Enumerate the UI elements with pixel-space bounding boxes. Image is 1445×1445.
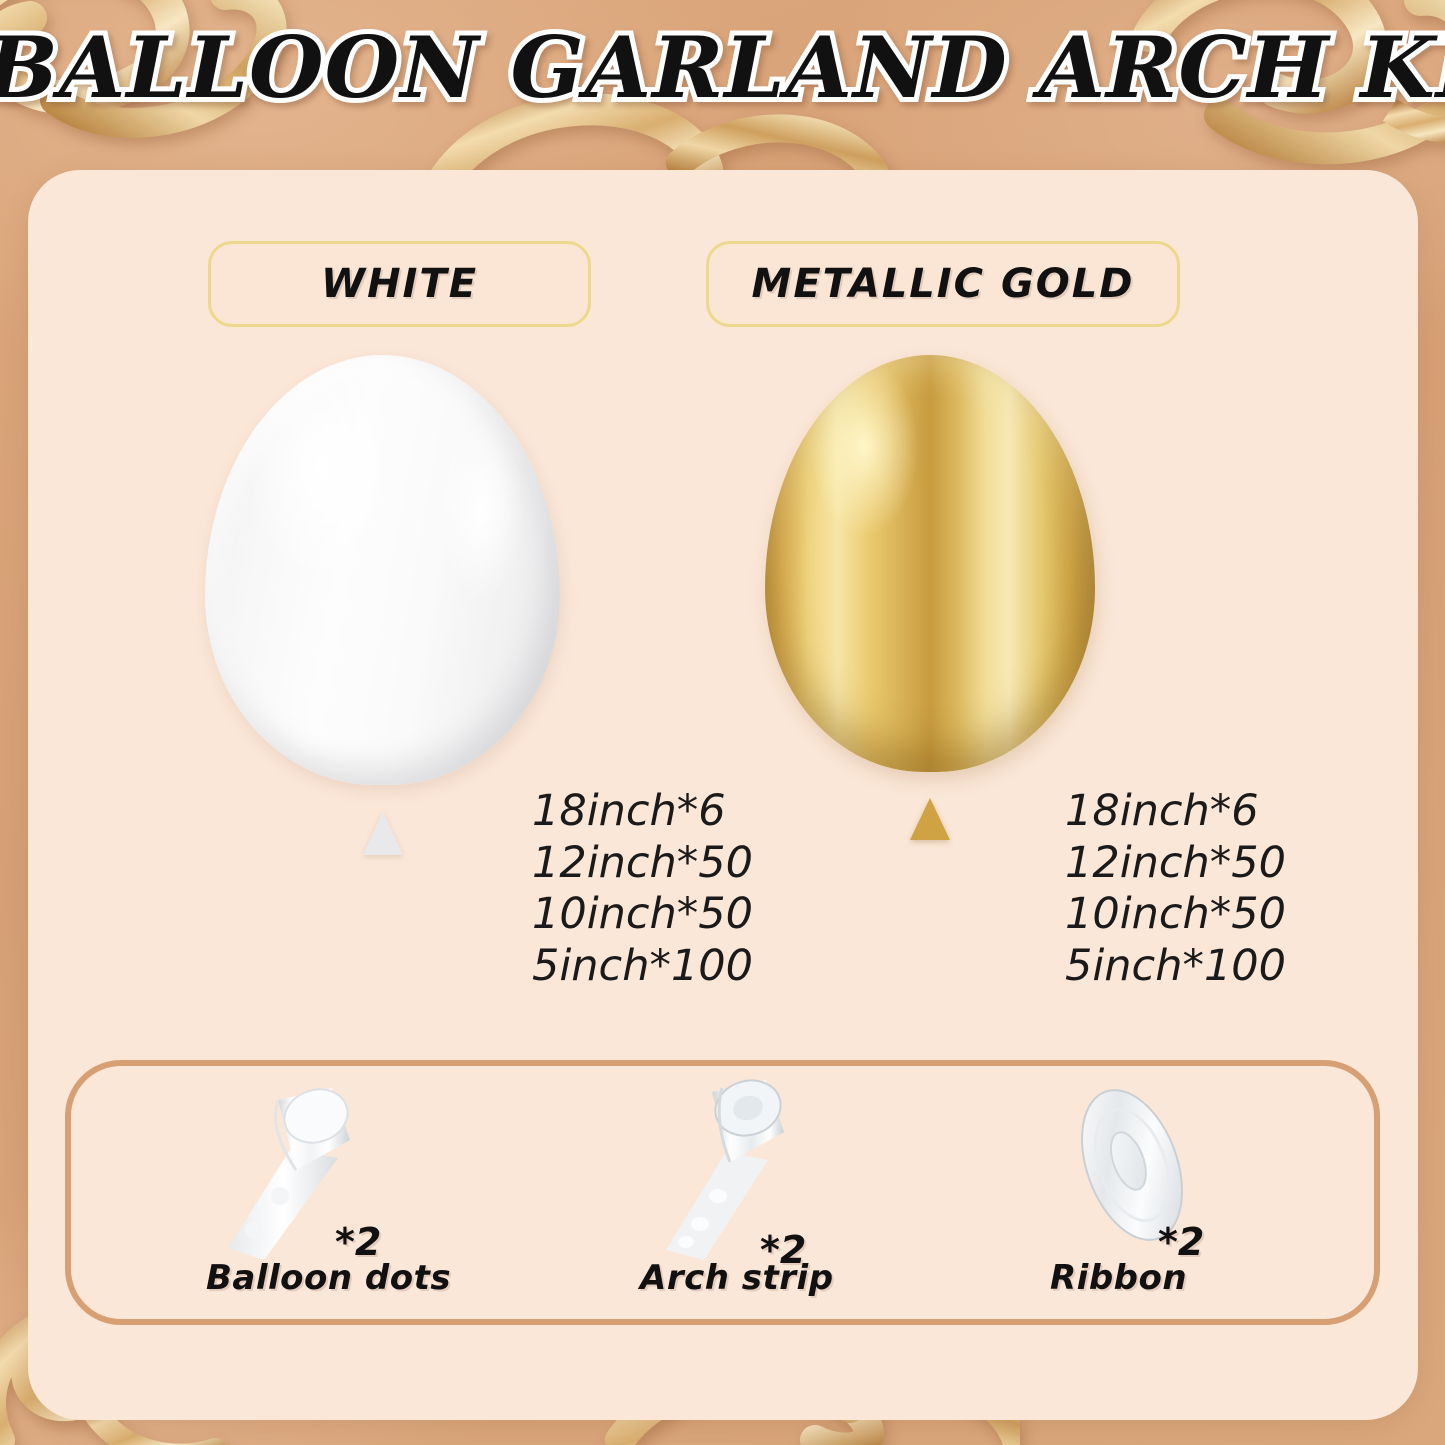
metallic-gold-balloon-neck xyxy=(910,798,950,840)
color-chip-white-label: WHITE xyxy=(321,261,478,307)
size-line: 18inch*6 xyxy=(532,786,753,838)
accessory-ribbon: *2 Ribbon xyxy=(1030,1060,1290,1325)
size-line: 12inch*50 xyxy=(532,838,753,890)
accessory-label: Arch strip xyxy=(640,1258,834,1298)
white-balloon-neck xyxy=(363,811,403,855)
product-infographic: BALLOON GARLAND ARCH KIT WHITE METALLIC … xyxy=(0,0,1445,1445)
metallic-gold-balloon xyxy=(765,355,1095,840)
color-chip-metallic-gold-label: METALLIC GOLD xyxy=(752,261,1135,307)
accessory-arch-strip: *2 Arch strip xyxy=(630,1060,930,1325)
white-balloon-body xyxy=(205,355,560,785)
accessory-label: Ribbon xyxy=(1050,1258,1187,1298)
color-chip-white: WHITE xyxy=(208,241,591,327)
clear-tape-roll-icon xyxy=(660,1074,840,1264)
size-line: 18inch*6 xyxy=(1065,786,1286,838)
size-line: 10inch*50 xyxy=(532,889,753,941)
accessory-balloon-dots: *2 Balloon dots xyxy=(200,1060,530,1325)
white-balloon xyxy=(205,355,560,855)
size-list-metallic-gold: 18inch*6 12inch*50 10inch*50 5inch*100 xyxy=(1065,786,1286,992)
size-line: 12inch*50 xyxy=(1065,838,1286,890)
tape-roll-icon xyxy=(220,1078,410,1263)
size-line: 5inch*100 xyxy=(1065,941,1286,993)
color-chip-metallic-gold: METALLIC GOLD xyxy=(706,241,1180,327)
size-line: 5inch*100 xyxy=(532,941,753,993)
size-line: 10inch*50 xyxy=(1065,889,1286,941)
page-title: BALLOON GARLAND ARCH KIT xyxy=(0,18,1445,117)
metallic-gold-balloon-body xyxy=(765,355,1095,772)
size-list-white: 18inch*6 12inch*50 10inch*50 5inch*100 xyxy=(532,786,753,992)
ribbon-spool-icon xyxy=(1060,1080,1230,1260)
accessory-label: Balloon dots xyxy=(206,1258,451,1298)
